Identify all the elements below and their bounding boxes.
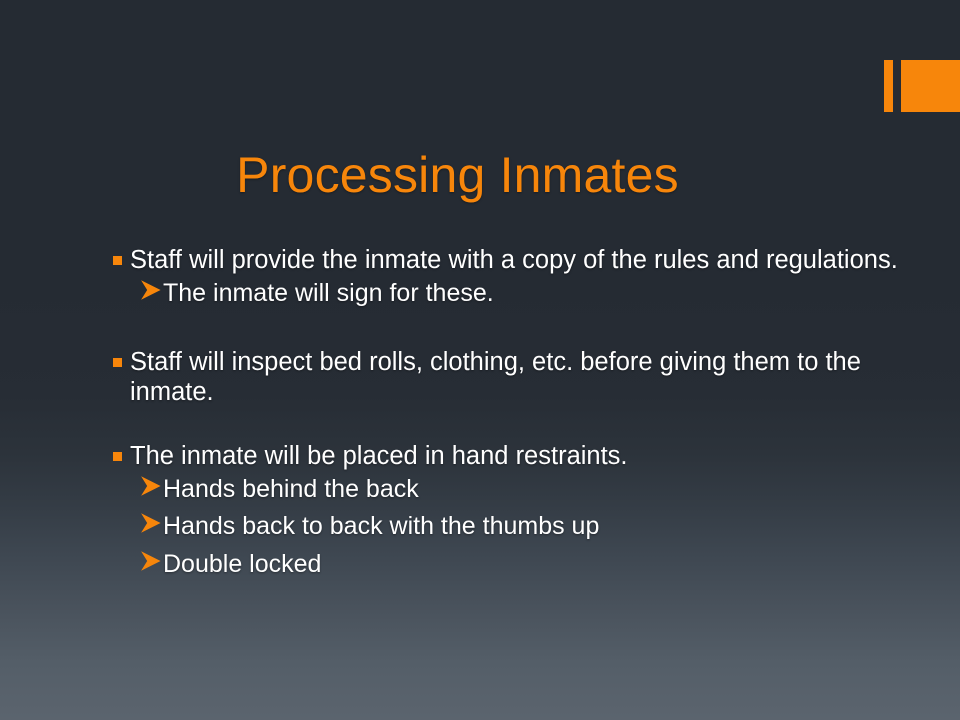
bullet-item: Staff will inspect bed rolls, clothing, … [110, 347, 910, 407]
sub-bullet-text: The inmate will sign for these. [163, 279, 494, 307]
sub-bullet-text: Hands back to back with the thumbs up [163, 512, 599, 540]
sub-bullet-item: Hands back to back with the thumbs up [110, 508, 910, 546]
sub-bullet-item: Double locked [110, 546, 910, 584]
bullet-list-level2: Hands behind the back Hands back to back… [110, 471, 910, 584]
bullet-text: The inmate will be placed in hand restra… [130, 442, 628, 470]
bullet-list-level2: The inmate will sign for these. [110, 275, 910, 313]
arrowhead-bullet-icon [140, 508, 162, 538]
bullet-list-level1: Staff will provide the inmate with a cop… [110, 245, 910, 583]
sub-bullet-text: Double locked [163, 550, 321, 578]
sub-bullet-item: Hands behind the back [110, 471, 910, 509]
square-bullet-icon [113, 452, 122, 461]
bullet-spacer [110, 407, 910, 441]
slide-canvas: Processing Inmates Staff will provide th… [0, 0, 960, 720]
arrowhead-bullet-icon [140, 546, 162, 576]
bullet-item: Staff will provide the inmate with a cop… [110, 245, 910, 275]
square-bullet-icon [113, 256, 122, 265]
bullet-text: Staff will inspect bed rolls, clothing, … [130, 348, 861, 406]
square-bullet-icon [113, 358, 122, 367]
arrowhead-bullet-icon [140, 275, 162, 305]
slide-body: Staff will provide the inmate with a cop… [110, 245, 910, 583]
orange-block-bar-icon [901, 60, 960, 112]
bullet-text: Staff will provide the inmate with a cop… [130, 246, 898, 274]
sub-bullet-text: Hands behind the back [163, 475, 419, 503]
slide-title: Processing Inmates [0, 148, 915, 203]
bullet-spacer [110, 313, 910, 347]
sub-bullet-item: The inmate will sign for these. [110, 275, 910, 313]
arrowhead-bullet-icon [140, 471, 162, 501]
top-right-decoration [884, 60, 960, 112]
bullet-item: The inmate will be placed in hand restra… [110, 441, 910, 471]
orange-thin-bar-icon [884, 60, 893, 112]
